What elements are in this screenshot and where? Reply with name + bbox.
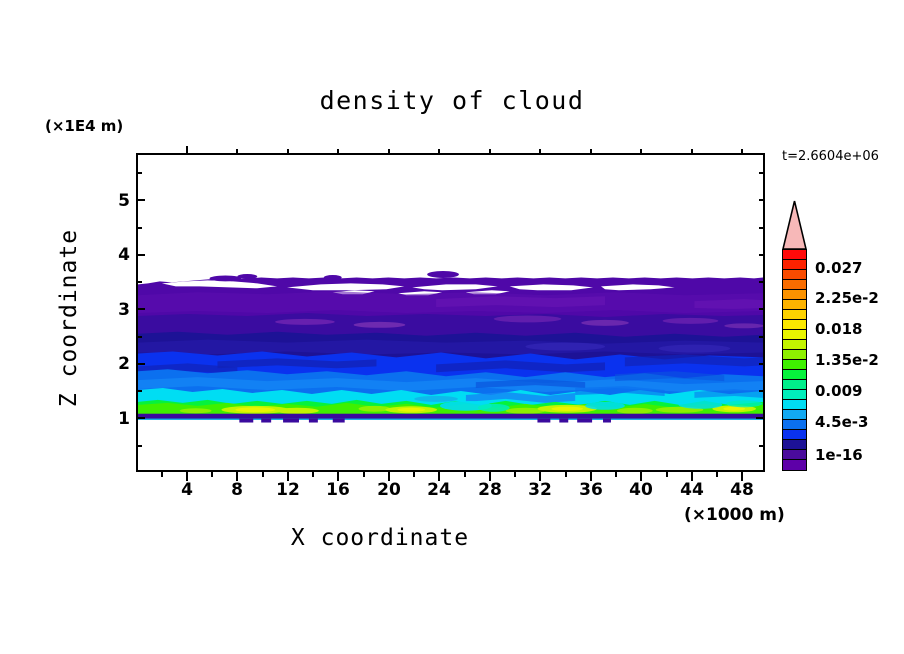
colorbar-tick-label: 0.027 [815,259,862,277]
x-axis-title: X coordinate [0,525,760,551]
x-tick-label: 48 [722,480,762,500]
colorbar-band [783,380,806,390]
timestamp-annotation: t=2.6604e+06 [782,149,879,164]
colorbar-band [783,400,806,410]
colorbar-band [783,440,806,450]
figure-canvas: density of cloud (×1E4 m) t=2.6604e+06 [0,0,904,654]
x-tick-label: 36 [571,480,611,500]
colorbar-band [783,300,806,310]
basal-dark-line [138,414,763,419]
colorbar-band [783,320,806,330]
colorbar-band [783,460,806,470]
x-tick-label: 8 [217,480,257,500]
y-tick-label: 4 [100,245,130,265]
x-tick-label: 16 [318,480,358,500]
x-tick-label: 44 [672,480,712,500]
colorbar-band [783,280,806,290]
colorbar-tick-label: 0.018 [815,320,862,338]
y-tick-label: 2 [100,354,130,374]
colorbar-band [783,250,806,260]
x-tick-label: 24 [419,480,459,500]
x-tick-label: 32 [520,480,560,500]
colorbar-band [783,450,806,460]
colorbar-band [783,330,806,340]
colorbar-band [783,340,806,350]
plot-area [136,153,765,472]
colorbar-tick-label: 1e-16 [815,446,863,464]
y-tick-label: 1 [100,409,130,429]
colorbar-tick-label: 4.5e-3 [815,413,868,431]
x-tick-label: 4 [167,480,207,500]
y-tick-label: 3 [100,300,130,320]
colorbar: 0.027 2.25e-2 0.018 1.35e-2 0.009 4.5e-3… [779,198,899,478]
x-tick-label: 28 [470,480,510,500]
colorbar-band [783,420,806,430]
colorbar-band [783,310,806,320]
page-title: density of cloud [0,86,904,115]
x-axis-units-label: (×1000 m) [684,505,785,525]
colorbar-band [783,410,806,420]
colorbar-extend-arrow [782,200,807,250]
colorbar-band [783,370,806,380]
colorbar-band [783,270,806,280]
colorbar-tick-label: 1.35e-2 [815,351,879,369]
colorbar-tick-label: 0.009 [815,382,862,400]
x-tick-label: 12 [268,480,308,500]
x-tick-label: 20 [369,480,409,500]
colorbar-tick-label: 2.25e-2 [815,289,879,307]
y-axis-title: Z coordinate [56,203,82,433]
contour-field [138,155,763,470]
colorbar-gradient [782,249,807,471]
colorbar-band [783,360,806,370]
colorbar-band [783,430,806,440]
x-tick-label: 40 [621,480,661,500]
colorbar-band [783,350,806,360]
colorbar-band [783,260,806,270]
y-tick-label: 5 [100,191,130,211]
colorbar-band [783,290,806,300]
colorbar-band [783,390,806,400]
y-axis-units-label: (×1E4 m) [45,117,123,135]
